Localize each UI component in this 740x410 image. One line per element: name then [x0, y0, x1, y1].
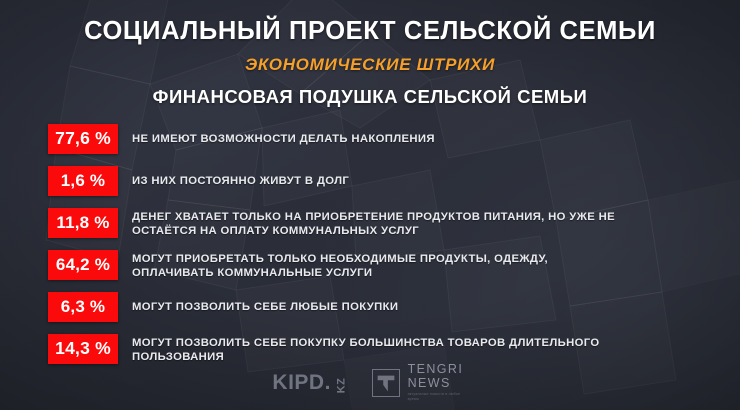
footer-logos: KIPD. KZ TENGRI NEWS актуальные новости …	[0, 363, 740, 402]
tengri-line-2: NEWS	[408, 377, 468, 391]
percentage-badge: 1,6 %	[48, 166, 118, 196]
tengri-news-logo: TENGRI NEWS актуальные новости в любое в…	[372, 363, 468, 402]
percentage-badge: 11,8 %	[48, 208, 118, 238]
poster-subtitle: ЭКОНОМИЧЕСКИЕ ШТРИХИ	[0, 55, 740, 75]
list-item-label: МОГУТ ПОЗВОЛИТЬ СЕБЕ ПОКУПКУ БОЛЬШИНСТВА…	[132, 334, 726, 365]
list-item-label: МОГУТ ПОЗВОЛИТЬ СЕБЕ ЛЮБЫЕ ПОКУПКИ	[132, 292, 726, 315]
label-line-1: МОГУТ ПРИОБРЕТАТЬ ТОЛЬКО НЕОБХОДИМЫЕ ПРО…	[132, 253, 726, 267]
kipd-logo-text: KIPD.	[272, 372, 331, 393]
page-title: СОЦИАЛЬНЫЙ ПРОЕКТ СЕЛЬСКОЙ СЕМЬИ	[0, 18, 740, 45]
list-item: 14,3 % МОГУТ ПОЗВОЛИТЬ СЕБЕ ПОКУПКУ БОЛЬ…	[48, 334, 726, 366]
tengri-wordmark: TENGRI NEWS актуальные новости в любое в…	[408, 363, 468, 402]
tengri-mark-icon	[372, 369, 400, 397]
label-line-1: МОГУТ ПОЗВОЛИТЬ СЕБЕ ЛЮБЫЕ ПОКУПКИ	[132, 301, 726, 315]
label-line-1: ИЗ НИХ ПОСТОЯННО ЖИВУТ В ДОЛГ	[132, 175, 726, 189]
list-item: 64,2 % МОГУТ ПРИОБРЕТАТЬ ТОЛЬКО НЕОБХОДИ…	[48, 250, 726, 282]
kipd-logo-tld: KZ	[336, 378, 347, 394]
list-item-label: ДЕНЕГ ХВАТАЕТ ТОЛЬКО НА ПРИОБРЕТЕНИЕ ПРО…	[132, 208, 726, 239]
label-line-2: ОПЛАЧИВАТЬ КОММУНАЛЬНЫЕ УСЛУГИ	[132, 267, 726, 281]
statistics-list: 77,6 % НЕ ИМЕЮТ ВОЗМОЖНОСТИ ДЕЛАТЬ НАКОП…	[0, 124, 740, 366]
label-line-2: ОСТАЁТСЯ НА ОПЛАТУ КОММУНАЛЬНЫХ УСЛУГ	[132, 225, 726, 239]
list-item: 6,3 % МОГУТ ПОЗВОЛИТЬ СЕБЕ ЛЮБЫЕ ПОКУПКИ	[48, 292, 726, 324]
label-line-1: НЕ ИМЕЮТ ВОЗМОЖНОСТИ ДЕЛАТЬ НАКОПЛЕНИЯ	[132, 133, 726, 147]
list-item: 77,6 % НЕ ИМЕЮТ ВОЗМОЖНОСТИ ДЕЛАТЬ НАКОП…	[48, 124, 726, 156]
infographic-poster: СОЦИАЛЬНЫЙ ПРОЕКТ СЕЛЬСКОЙ СЕМЬИ ЭКОНОМИ…	[0, 0, 740, 410]
list-item: 1,6 % ИЗ НИХ ПОСТОЯННО ЖИВУТ В ДОЛГ	[48, 166, 726, 198]
list-item-label: МОГУТ ПРИОБРЕТАТЬ ТОЛЬКО НЕОБХОДИМЫЕ ПРО…	[132, 250, 726, 281]
tengri-tagline: актуальные новости в любое время	[408, 392, 468, 402]
tengri-line-1: TENGRI	[408, 363, 468, 377]
label-line-1: МОГУТ ПОЗВОЛИТЬ СЕБЕ ПОКУПКУ БОЛЬШИНСТВА…	[132, 337, 726, 351]
percentage-badge: 64,2 %	[48, 250, 118, 280]
percentage-badge: 14,3 %	[48, 334, 118, 364]
label-line-1: ДЕНЕГ ХВАТАЕТ ТОЛЬКО НА ПРИОБРЕТЕНИЕ ПРО…	[132, 211, 726, 225]
percentage-badge: 6,3 %	[48, 292, 118, 322]
percentage-badge: 77,6 %	[48, 124, 118, 154]
list-item-label: НЕ ИМЕЮТ ВОЗМОЖНОСТИ ДЕЛАТЬ НАКОПЛЕНИЯ	[132, 124, 726, 147]
section-title: ФИНАНСОВАЯ ПОДУШКА СЕЛЬСКОЙ СЕМЬИ	[0, 86, 740, 108]
list-item-label: ИЗ НИХ ПОСТОЯННО ЖИВУТ В ДОЛГ	[132, 166, 726, 189]
poster-header: СОЦИАЛЬНЫЙ ПРОЕКТ СЕЛЬСКОЙ СЕМЬИ ЭКОНОМИ…	[0, 0, 740, 108]
list-item: 11,8 % ДЕНЕГ ХВАТАЕТ ТОЛЬКО НА ПРИОБРЕТЕ…	[48, 208, 726, 240]
kipd-logo: KIPD. KZ	[272, 372, 349, 393]
